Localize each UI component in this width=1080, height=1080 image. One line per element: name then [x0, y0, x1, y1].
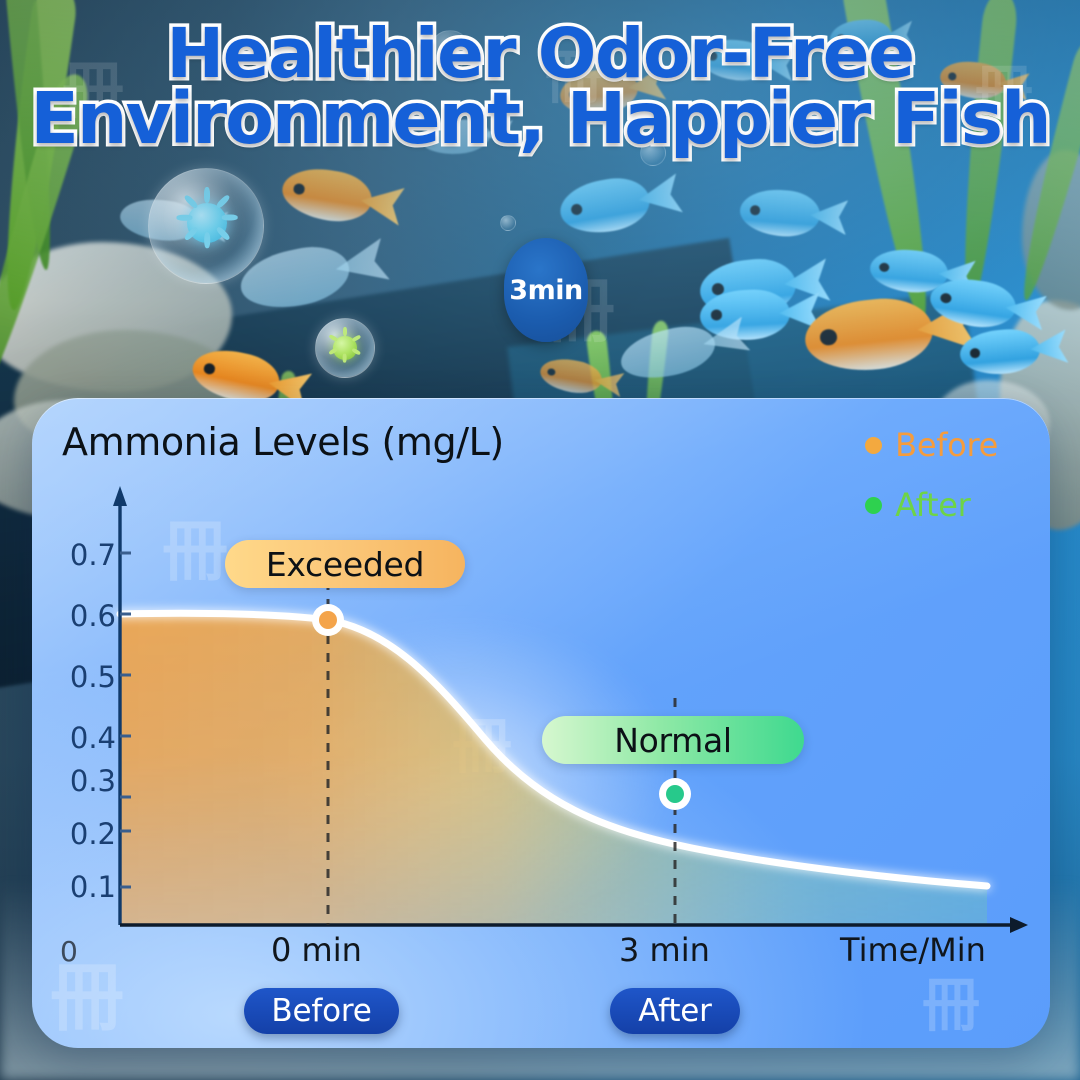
chart-card: 冊 冊 冊 冊 Ammonia Levels (mg/L) Before Aft… — [32, 398, 1050, 1048]
timer-badge: 3min — [504, 238, 588, 342]
page-title: Healthier Odor-Free Environment, Happier… — [0, 22, 1080, 152]
y-tick-label: 0.3 — [44, 764, 116, 798]
y-tick-label: 0.6 — [44, 599, 116, 633]
x-tick-label-after: 3 min — [619, 931, 710, 969]
y-tick-label: 0.5 — [44, 660, 116, 694]
badge-before: Before — [244, 988, 399, 1034]
poster-canvas: 冊 冊 冊 冊 Healthier Odor-Free Environment,… — [0, 0, 1080, 1080]
timer-badge-label: 3min — [509, 275, 582, 306]
y-tick-label: 0.7 — [44, 538, 116, 572]
y-tick-label: 0.2 — [44, 817, 116, 851]
annotation-exceeded: Exceeded — [225, 540, 465, 588]
badge-after-label: After — [638, 993, 711, 1029]
page-title-line-2: Environment, Happier Fish — [0, 86, 1080, 152]
x-tick-label-before: 0 min — [271, 931, 362, 969]
y-axis-arrow — [113, 486, 127, 506]
annotation-normal-label: Normal — [614, 721, 732, 760]
badge-before-label: Before — [271, 993, 371, 1029]
y-tick-label: 0.1 — [44, 870, 116, 904]
annotation-normal: Normal — [542, 716, 804, 764]
annotation-exceeded-label: Exceeded — [266, 545, 424, 584]
area-fill — [120, 613, 987, 925]
origin-label: 0 — [60, 935, 78, 968]
x-axis-arrow — [1010, 917, 1028, 933]
x-axis-title: Time/Min — [840, 931, 986, 969]
y-tick-label: 0.4 — [44, 721, 116, 755]
badge-after: After — [610, 988, 740, 1034]
